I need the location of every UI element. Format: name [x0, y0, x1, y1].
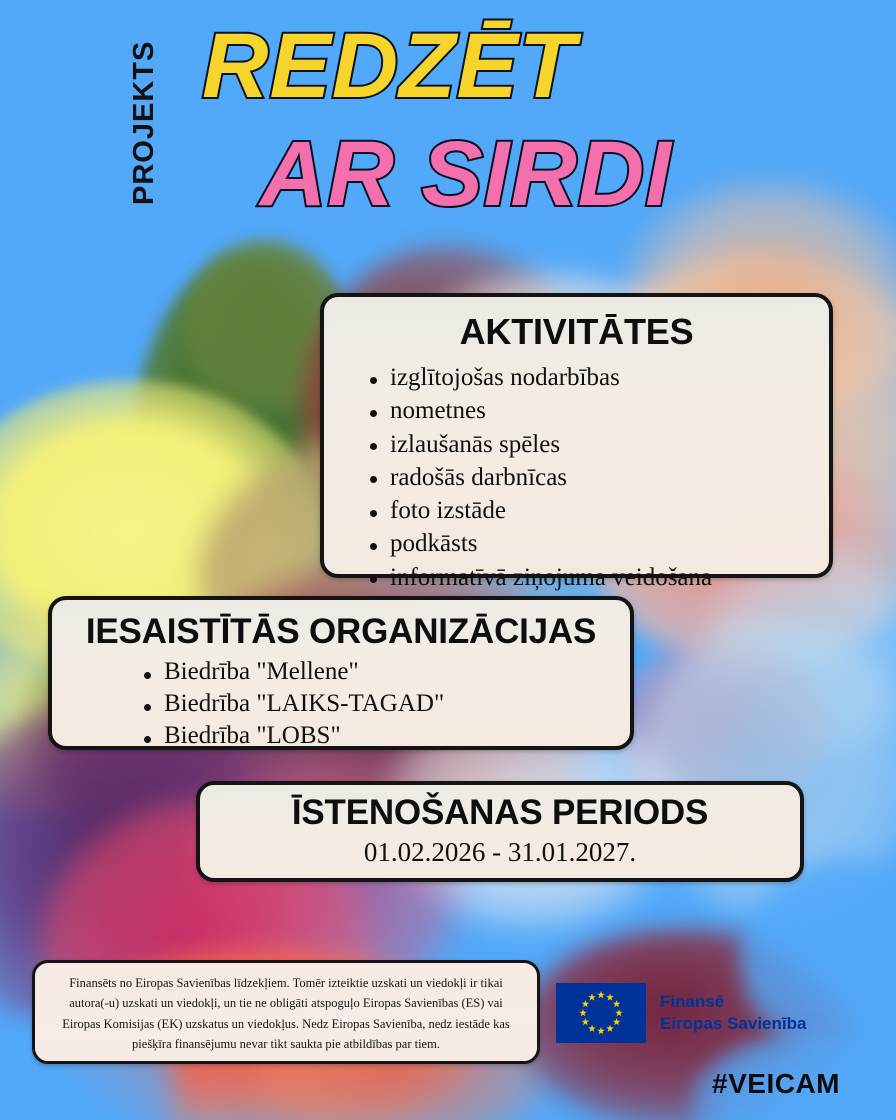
list-item: Biedrība "LOBS" [138, 720, 614, 752]
poster-header: PROJEKTS REDZĒT AR SIRDI [0, 0, 896, 240]
list-item: podkāsts [364, 527, 813, 560]
list-item: foto izstāde [364, 494, 813, 527]
list-item: radošās darbnīcas [364, 461, 813, 494]
list-item: izglītojošas nodarbības [364, 361, 813, 394]
eu-logo-text: Finansē Eiropas Savienība [660, 991, 806, 1035]
eu-disclaimer-text: Finansēts no Eiropas Savienības līdzekļi… [51, 973, 521, 1054]
eu-logo-line-2: Eiropas Savienība [660, 1013, 806, 1035]
activities-list: izglītojošas nodarbības nometnes izlauša… [364, 361, 813, 594]
list-item: nometnes [364, 394, 813, 427]
art-blue-patch [0, 250, 160, 430]
eu-logo-line-1: Finansē [660, 991, 806, 1013]
activities-title: AKTIVITĀTES [340, 311, 813, 353]
title-line-redzet: REDZĒT [202, 20, 880, 114]
title-line-ar-sirdi: AR SIRDI [260, 128, 880, 222]
poster-title: REDZĒT AR SIRDI [180, 20, 880, 222]
poster-root: PROJEKTS REDZĒT AR SIRDI AKTIVITĀTES izg… [0, 0, 896, 1120]
list-item: izlaušanās spēles [364, 428, 813, 461]
list-item: Biedrība "LAIKS-TAGAD" [138, 688, 614, 720]
organizations-title: IESAISTĪTĀS ORGANIZĀCIJAS [68, 612, 614, 652]
activities-card: AKTIVITĀTES izglītojošas nodarbības nome… [320, 293, 833, 578]
list-item: informatīvā ziņojuma veidošana [364, 561, 813, 594]
period-card: ĪSTENOŠANAS PERIODS 01.02.2026 - 31.01.2… [196, 781, 804, 882]
organizations-list: Biedrība "Mellene" Biedrība "LAIKS-TAGAD… [138, 656, 614, 752]
list-item: Biedrība "Mellene" [138, 656, 614, 688]
period-title: ĪSTENOŠANAS PERIODS [216, 793, 784, 833]
period-dates: 01.02.2026 - 31.01.2027. [216, 837, 784, 868]
organizations-card: IESAISTĪTĀS ORGANIZĀCIJAS Biedrība "Mell… [48, 596, 634, 750]
eu-flag-icon [556, 983, 646, 1043]
campaign-hashtag: #VEICAM [712, 1068, 840, 1100]
project-kicker: PROJEKTS [112, 28, 176, 218]
eu-disclaimer-card: Finansēts no Eiropas Savienības līdzekļi… [32, 960, 540, 1064]
eu-funding-logo: Finansē Eiropas Savienība [556, 983, 806, 1043]
